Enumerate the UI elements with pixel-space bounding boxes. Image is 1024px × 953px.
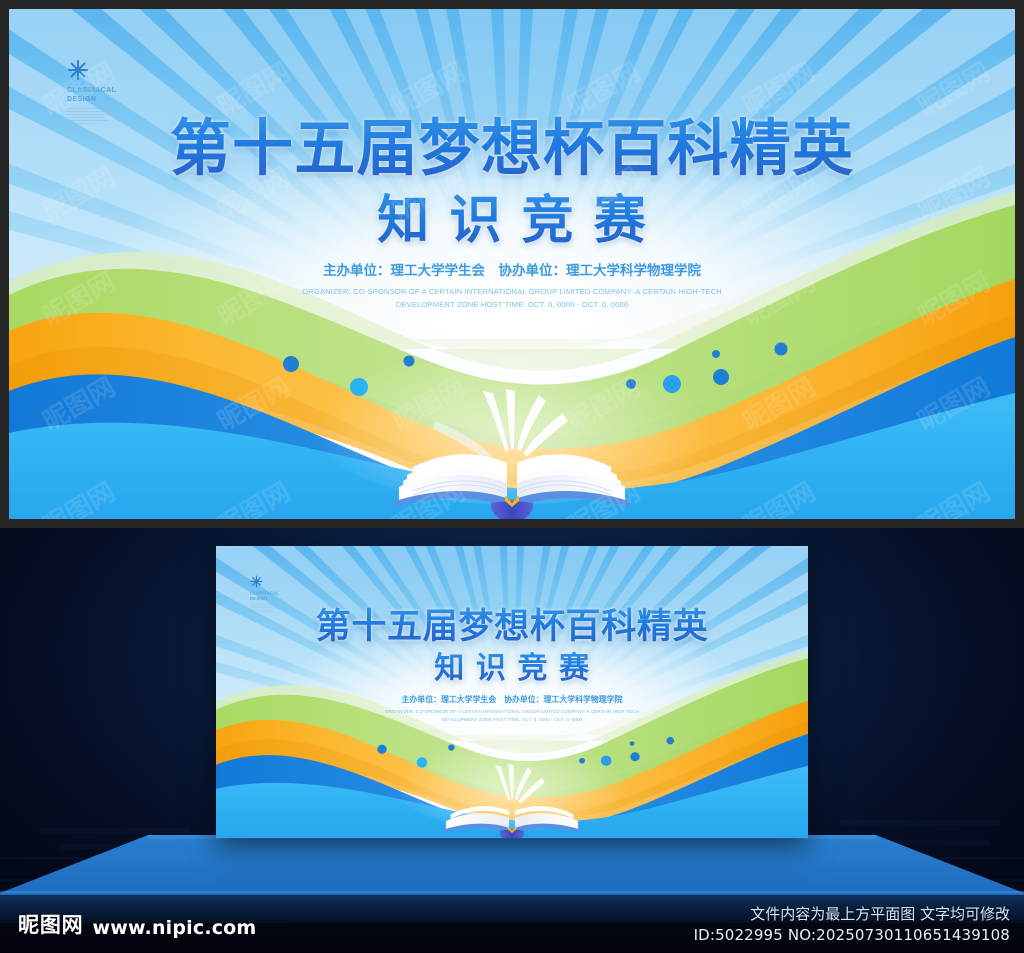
poster-title-line1: 第十五届梦想杯百科精英: [170, 113, 854, 185]
mock-english-line-2: DEVELOPMENT ZONE HOST TIME: OCT. 0, 0000…: [216, 716, 808, 724]
footer-bar: 昵图网 www.nipic.com 文件内容为最上方平面图 文字均可修改 ID:…: [0, 895, 1024, 953]
snowflake-icon: [67, 59, 89, 81]
english-line-2: DEVELOPMENT ZONE HOST TIME: OCT. 0, 0000…: [9, 298, 1015, 311]
footer-note: 文件内容为最上方平面图 文字均可修改: [750, 903, 1010, 924]
poster-flat-artwork: CLASSIACAL DESIGN 第十五届梦想杯百科精英 知 识 竞 赛: [9, 9, 1015, 519]
mock-title-line1: 第十五届梦想杯百科精英: [316, 606, 709, 648]
organizer-line: 主办单位：理工大学学生会 协办单位：理工大学科学物理学院: [9, 262, 1015, 281]
logo-line-2: DESIGN: [67, 96, 116, 105]
nipic-brand[interactable]: 昵图网 www.nipic.com: [18, 909, 256, 939]
poster-mockup-canvas: CLASSIACAL DESIGN 第十五届梦想杯百科精英 知 识 竞 赛: [0, 0, 1024, 953]
logo-line-1: CLASSIACAL: [67, 87, 116, 96]
poster-credits-block: 主办单位：理工大学学生会 协办单位：理工大学科学物理学院 ORGANIZER: …: [9, 262, 1015, 311]
poster-mockup-on-stage: CLASSIACAL DESIGN 第十五届梦想杯百科精英 知 识 竞 赛: [216, 546, 808, 838]
stage-scene: CLASSIACAL DESIGN 第十五届梦想杯百科精英 知 识 竞 赛: [0, 528, 1024, 953]
mock-snowflake-icon: [250, 575, 263, 588]
poster-title-line2: 知 识 竞 赛: [377, 191, 647, 251]
mock-open-book-icon: [439, 764, 586, 838]
footer-id-text: ID:5022995 NO:20250730110651439108: [694, 926, 1010, 944]
mock-credits-block: 主办单位：理工大学学生会 协办单位：理工大学科学物理学院 ORGANIZER: …: [216, 694, 808, 724]
nipic-brand-url[interactable]: www.nipic.com: [93, 917, 257, 939]
mock-title-block: 第十五届梦想杯百科精英 知 识 竞 赛: [216, 606, 808, 686]
poster-title-block: 第十五届梦想杯百科精英 知 识 竞 赛: [9, 112, 1015, 251]
mock-title-line2: 知 识 竞 赛: [434, 651, 590, 686]
open-book-icon: [387, 389, 637, 519]
english-line-1: ORGANIZER: CO-SPONSOR OF A CERTAIN INTER…: [9, 285, 1015, 298]
mock-organizer-line: 主办单位：理工大学学生会 协办单位：理工大学科学物理学院: [216, 694, 808, 706]
mock-logo-line-2: DESIGN: [250, 597, 279, 602]
nipic-brand-cn: 昵图网: [18, 909, 84, 939]
mock-english-line-1: ORGANIZER: CO-SPONSOR OF A CERTAIN INTER…: [216, 708, 808, 716]
